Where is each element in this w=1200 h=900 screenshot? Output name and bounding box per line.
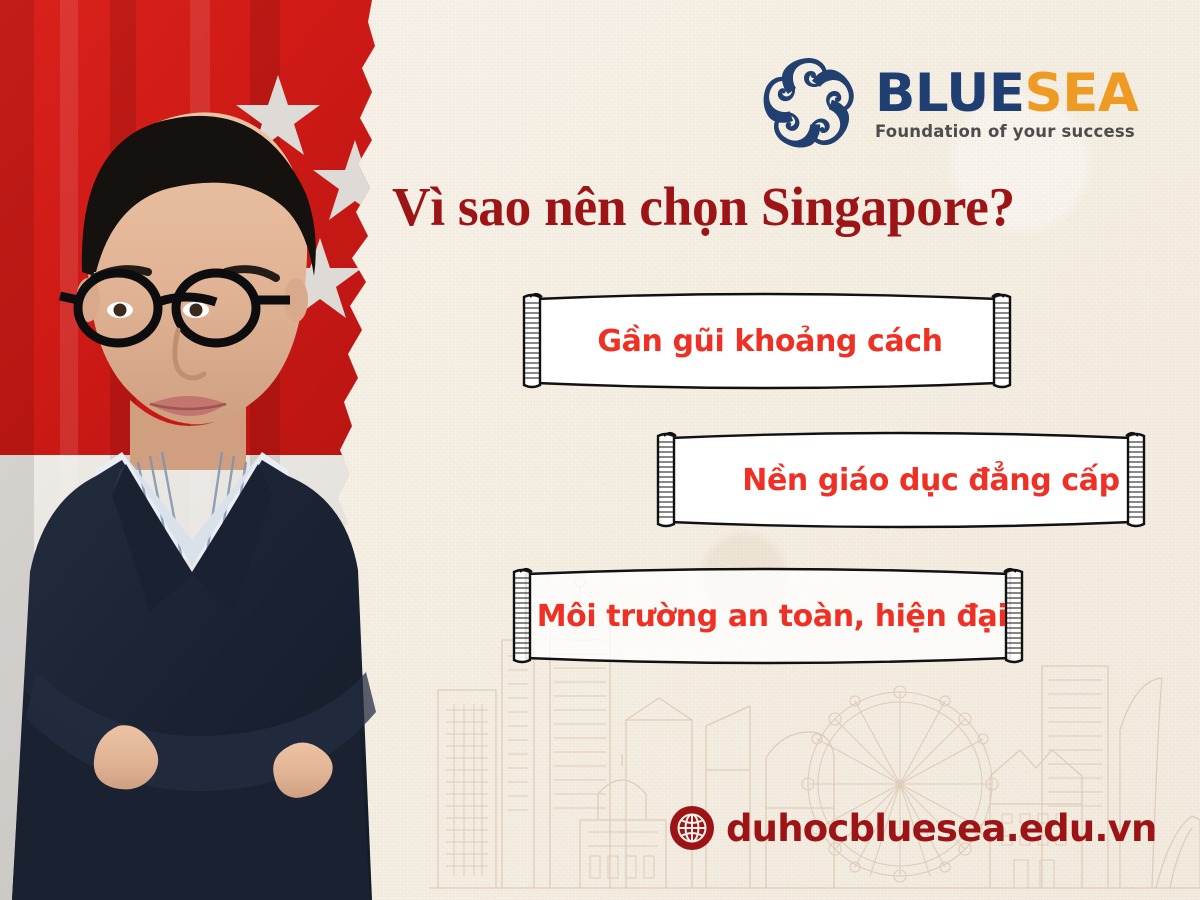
globe-icon xyxy=(670,806,714,850)
consultant-portrait-with-flag xyxy=(0,0,400,900)
logo-word-blue: BLUE xyxy=(875,63,1025,124)
website-url[interactable]: duhocbluesea.edu.vn xyxy=(726,807,1157,850)
logo-word-sea: SEA xyxy=(1025,63,1139,124)
feature-banner-1: Gần gũi khoảng cách xyxy=(518,285,1016,397)
page-title: Vì sao nên chọn Singapore? xyxy=(392,178,1168,236)
feature-banner-3: Môi trường an toàn, hiện đại xyxy=(508,560,1028,672)
bluesea-petal-mark-icon xyxy=(757,54,861,154)
feature-banner-1-label: Gần gũi khoảng cách xyxy=(518,285,1016,397)
bluesea-logo: BLUESEA Foundation of your success xyxy=(757,52,1157,156)
website-footer[interactable]: duhocbluesea.edu.vn xyxy=(670,806,1157,850)
logo-tagline: Foundation of your success xyxy=(875,122,1138,141)
feature-banner-3-label: Môi trường an toàn, hiện đại xyxy=(508,560,1028,672)
logo-wordmark: BLUESEA xyxy=(875,69,1138,120)
poster-canvas: BLUESEA Foundation of your success Vì sa… xyxy=(0,0,1200,900)
feature-banner-2: Nền giáo dục đẳng cấp xyxy=(652,424,1150,536)
feature-banner-2-label: Nền giáo dục đẳng cấp xyxy=(652,424,1150,536)
